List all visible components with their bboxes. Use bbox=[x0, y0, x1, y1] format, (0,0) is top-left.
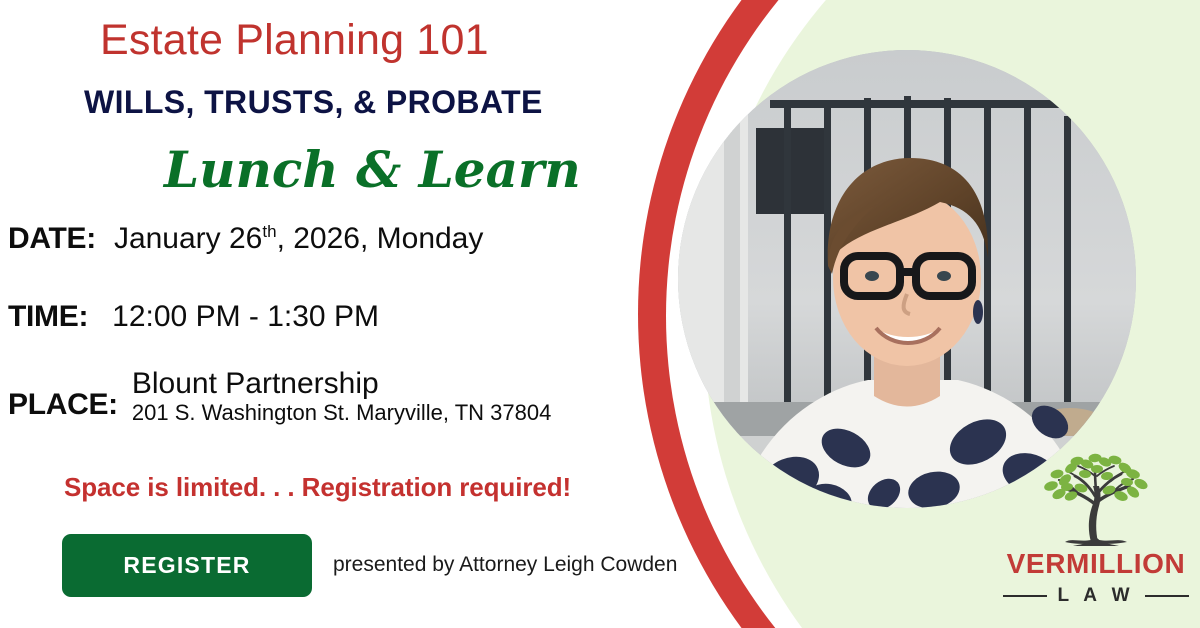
attorney-headshot-photo bbox=[678, 50, 1136, 508]
event-flyer: Estate Planning 101 WILLS, TRUSTS, & PRO… bbox=[0, 0, 1200, 628]
logo-rule-right bbox=[1145, 595, 1189, 597]
detail-row-date: DATE: January 26th, 2026, Monday bbox=[8, 222, 483, 256]
detail-row-place: PLACE: Blount Partnership 201 S. Washing… bbox=[8, 368, 551, 426]
page-title: Estate Planning 101 bbox=[100, 16, 489, 65]
flyer-text-column: Estate Planning 101 WILLS, TRUSTS, & PRO… bbox=[0, 0, 700, 628]
register-button[interactable]: REGISTER bbox=[62, 534, 312, 597]
date-ordinal-suffix: th bbox=[262, 222, 276, 241]
presenter-credit: presented by Attorney Leigh Cowden bbox=[333, 553, 677, 577]
registration-notice: Space is limited. . . Registration requi… bbox=[64, 472, 571, 503]
date-value: January 26th, 2026, Monday bbox=[114, 222, 483, 256]
logo-wordmark: VERMILLION bbox=[1003, 548, 1189, 580]
venue-name: Blount Partnership bbox=[132, 367, 379, 400]
time-label: TIME: bbox=[8, 300, 88, 334]
logo-rule-left bbox=[1003, 595, 1047, 597]
time-value: 12:00 PM - 1:30 PM bbox=[112, 300, 379, 334]
logo-tagline: L A W bbox=[1055, 585, 1136, 607]
date-value-rest: , 2026, Monday bbox=[277, 222, 484, 255]
place-label: PLACE: bbox=[8, 388, 118, 422]
vermillion-law-logo: VERMILLION L A W bbox=[1003, 452, 1189, 612]
detail-row-time: TIME: 12:00 PM - 1:30 PM bbox=[8, 300, 379, 334]
place-value-block: Blount Partnership 201 S. Washington St.… bbox=[132, 368, 551, 426]
date-value-main: January 26 bbox=[114, 222, 262, 255]
venue-address: 201 S. Washington St. Maryville, TN 3780… bbox=[132, 400, 551, 425]
event-type-script: Lunch & Learn bbox=[164, 140, 581, 199]
logo-tagline-row: L A W bbox=[1003, 585, 1189, 607]
page-subtitle: WILLS, TRUSTS, & PROBATE bbox=[84, 84, 543, 121]
date-label: DATE: bbox=[8, 222, 96, 256]
tree-icon bbox=[1021, 452, 1171, 548]
